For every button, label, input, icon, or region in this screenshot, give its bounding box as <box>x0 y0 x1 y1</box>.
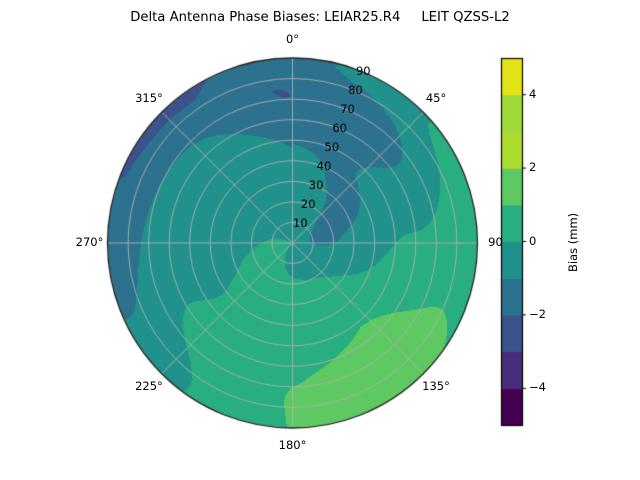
colorbar-tick--4: −4 <box>529 382 563 394</box>
azimuth-tick-270: 270° <box>67 237 113 249</box>
radial-tick-30: 30 <box>299 180 333 192</box>
radial-tick-20: 20 <box>291 199 325 211</box>
colorbar-tick--2: −2 <box>529 309 563 321</box>
colorbar-axis-label: Bias (mm) <box>568 212 580 271</box>
azimuth-tick-225: 225° <box>126 381 172 393</box>
radial-tick-10: 10 <box>283 218 317 230</box>
radial-tick-60: 60 <box>323 123 357 135</box>
azimuth-tick-0: 0° <box>270 34 316 46</box>
azimuth-tick-315: 315° <box>126 93 172 105</box>
figure-canvas: Delta Antenna Phase Biases: LEIAR25.R4 L… <box>0 0 640 480</box>
azimuth-tick-90: 90 <box>473 237 519 249</box>
radial-tick-50: 50 <box>315 142 349 154</box>
radial-tick-80: 80 <box>338 85 372 97</box>
radial-tick-90: 90 <box>346 66 380 78</box>
colorbar-tick-2: 2 <box>529 162 563 174</box>
radial-tick-70: 70 <box>331 104 365 116</box>
azimuth-tick-45: 45° <box>413 93 459 105</box>
colorbar-tick-0: 0 <box>529 236 563 248</box>
page-title: Delta Antenna Phase Biases: LEIAR25.R4 L… <box>0 11 640 24</box>
azimuth-tick-135: 135° <box>413 381 459 393</box>
radial-tick-40: 40 <box>307 161 341 173</box>
colorbar-tick-4: 4 <box>529 89 563 101</box>
azimuth-tick-180: 180° <box>270 440 316 452</box>
